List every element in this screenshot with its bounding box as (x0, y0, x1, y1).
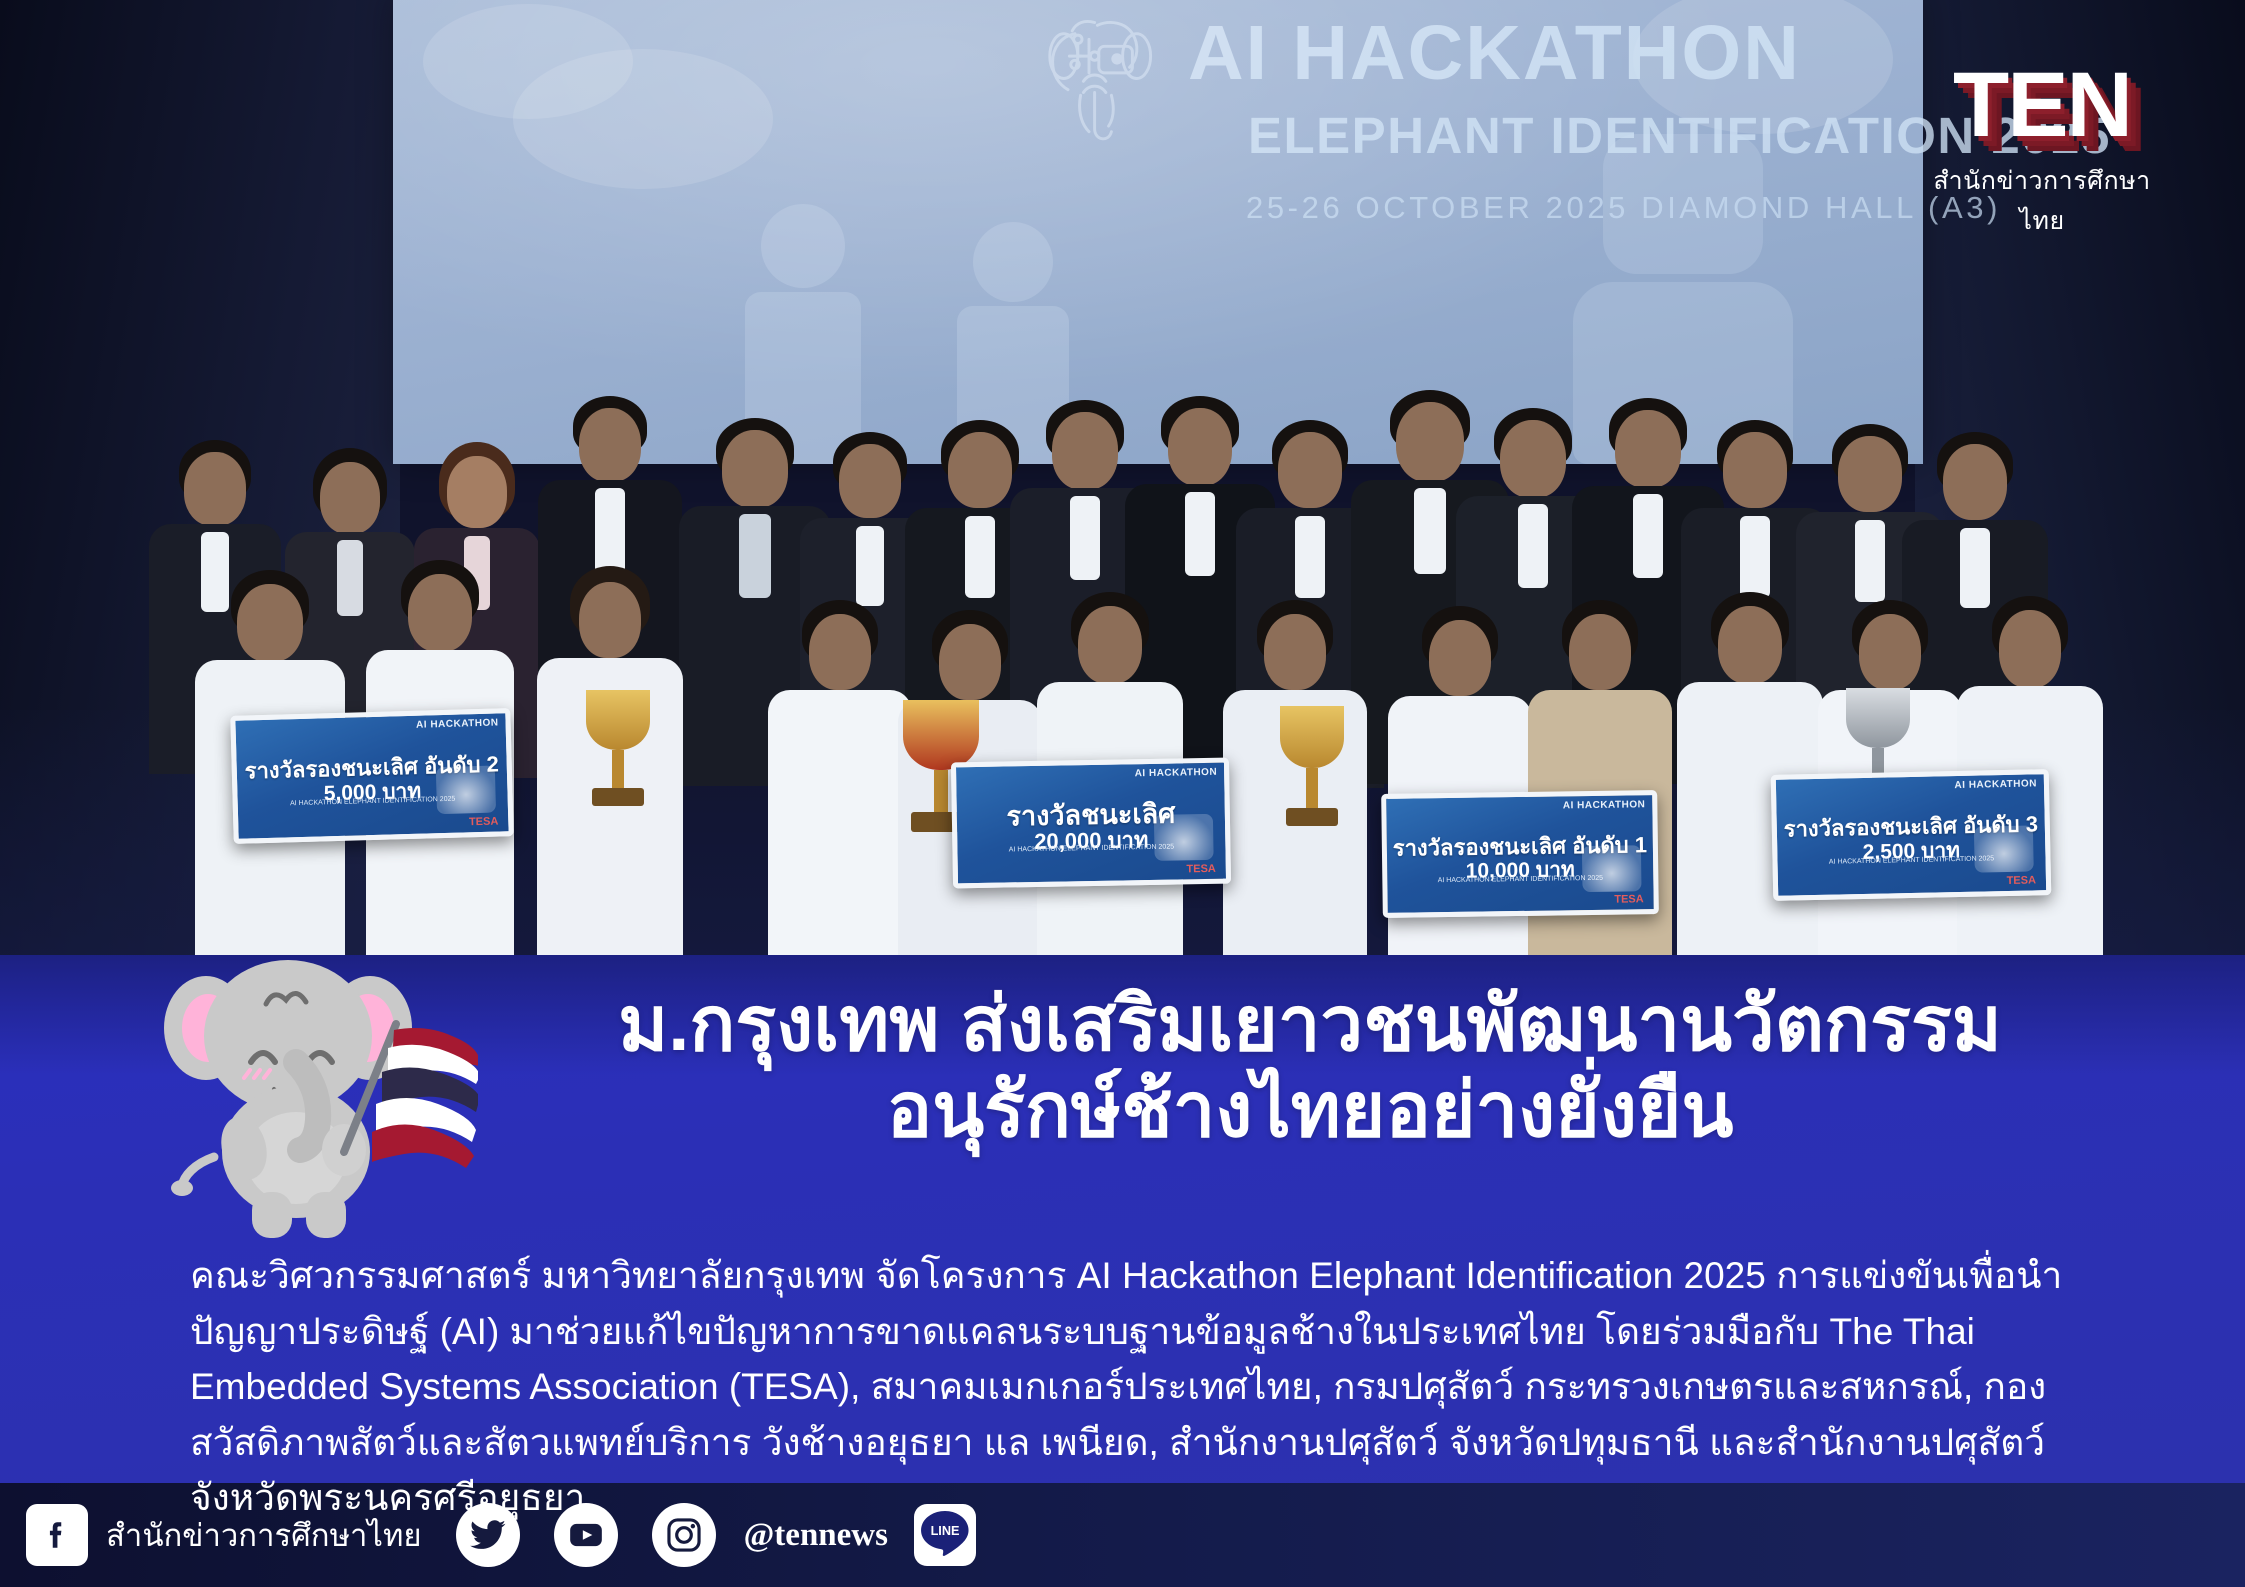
board-sponsor: TESA (469, 815, 499, 828)
projection-screen: AI HACKATHON ELEPHANT IDENTIFICATION 202… (393, 0, 1923, 464)
svg-text:LINE: LINE (931, 1524, 960, 1538)
ten-watermark-logo: TEN สำนักข่าวการศึกษาไทย (1917, 62, 2167, 241)
board-brand: AI HACKATHON (1563, 799, 1646, 811)
elephant-circuit-brain-icon (1033, 8, 1173, 156)
trophy (1272, 706, 1352, 844)
headline-line-2: อนุรักษ์ช้างไทยอย่างยั่งยืน (430, 1068, 2190, 1154)
cloud-decor (423, 4, 633, 119)
award-board: AI HACKATHON รางวัลรองชนะเลิศ อันดับ 3 2… (1771, 769, 2052, 901)
trophy (578, 690, 658, 820)
board-sponsor: TESA (1186, 863, 1216, 876)
board-mascot-icon (1154, 814, 1214, 861)
facebook-icon (40, 1518, 74, 1552)
board-sponsor: TESA (2007, 874, 2037, 887)
event-photograph: AI HACKATHON ELEPHANT IDENTIFICATION 202… (0, 0, 2245, 1010)
board-mascot-icon (1582, 845, 1641, 891)
board-mascot-icon (1974, 826, 2034, 874)
award-board: AI HACKATHON รางวัลรองชนะเลิศ อันดับ 2 5… (230, 708, 513, 844)
ten-tagline: สำนักข่าวการศึกษาไทย (1917, 161, 2167, 241)
board-sponsor: TESA (1614, 893, 1644, 905)
award-board: AI HACKATHON รางวัลรองชนะเลิศ อันดับ 1 1… (1381, 790, 1659, 918)
news-poster: AI HACKATHON ELEPHANT IDENTIFICATION 202… (0, 0, 2245, 1587)
article-body-text: คณะวิศวกรรมศาสตร์ มหาวิทยาลัยกรุงเทพ จัด… (190, 1248, 2090, 1526)
board-brand: AI HACKATHON (1954, 778, 2037, 791)
student (770, 600, 910, 972)
screen-title: AI HACKATHON (1188, 9, 1923, 98)
screen-subtitle: ELEPHANT IDENTIFICATION 2025 (1248, 106, 1923, 165)
ten-wordmark: TEN (1917, 62, 2167, 149)
board-brand: AI HACKATHON (416, 717, 499, 730)
cloud-decor (1633, 0, 1893, 134)
elephant-mascot-with-thai-flag (148, 952, 478, 1242)
page-headline: ม.กรุงเทพ ส่งเสริมเยาวชนพัฒนานวัตกรรม อน… (430, 982, 2190, 1154)
cloud-decor (513, 49, 773, 189)
board-mascot-icon (435, 766, 496, 815)
screen-date-venue: 25-26 OCTOBER 2025 DIAMOND HALL (A3) (1246, 190, 1923, 226)
headline-line-1: ม.กรุงเทพ ส่งเสริมเยาวชนพัฒนานวัตกรรม (618, 982, 2002, 1067)
facebook-button[interactable] (26, 1504, 88, 1566)
board-brand: AI HACKATHON (1135, 767, 1218, 779)
award-board: AI HACKATHON รางวัลชนะเลิศ 20,000 บาท AI… (951, 758, 1231, 889)
student (1530, 600, 1670, 972)
